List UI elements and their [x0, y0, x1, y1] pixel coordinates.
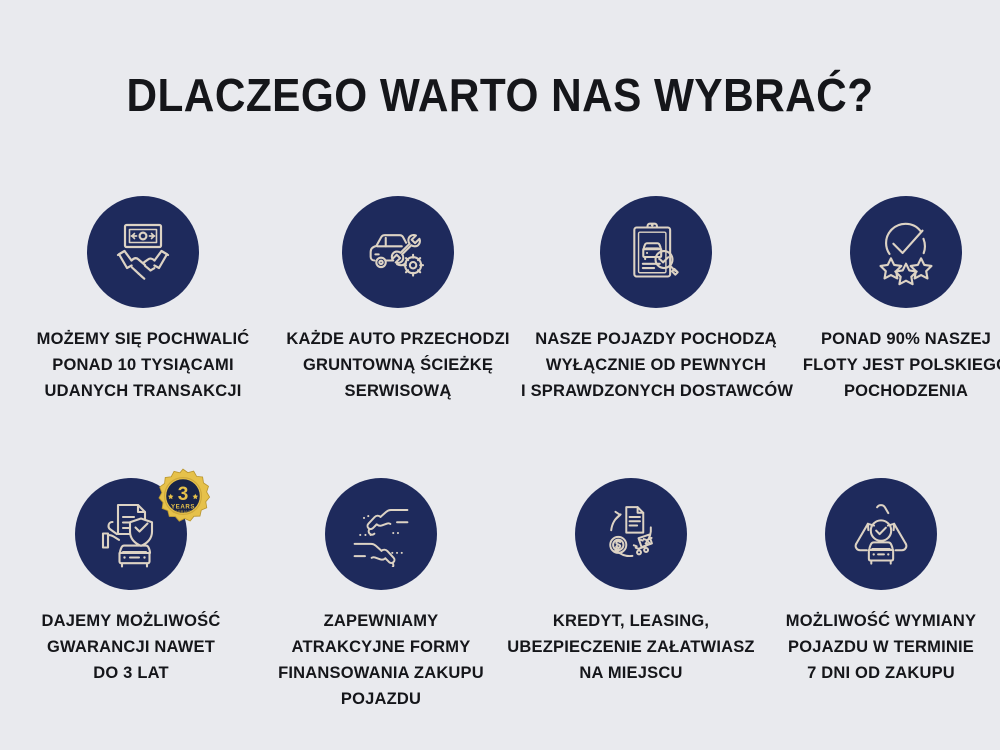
caption-line: FLOTY JEST POLSKIEGO [771, 352, 1000, 378]
caption-line: PONAD 90% NASZEJ [771, 326, 1000, 352]
checkmark-stars-icon [850, 196, 962, 308]
feature-icon-wrap-7 [575, 478, 687, 590]
feature-caption-6: ZAPEWNIAMY ATRAKCYJNE FORMY FINANSOWANIA… [246, 608, 516, 712]
caption-line: NASZE POJAZDY POCHODZĄ [521, 326, 791, 352]
document-cart-coin-cycle-icon [575, 478, 687, 590]
feature-icon-wrap-8 [825, 478, 937, 590]
three-years-warranty-badge: 3 YEARS WARRANTY [155, 468, 211, 524]
caption-line: PONAD 10 TYSIĄCAMI [8, 352, 278, 378]
clipboard-car-magnifier-check-icon [600, 196, 712, 308]
hands-money-exchange-icon [325, 478, 437, 590]
feature-item-8: MOŻLIWOŚĆ WYMIANY POJAZDU W TERMINIE 7 D… [756, 478, 1000, 686]
handshake-money-icon [87, 196, 199, 308]
feature-caption-2: KAŻDE AUTO PRZECHODZI GRUNTOWNĄ ŚCIEŻKĘ … [263, 326, 533, 404]
caption-line: GRUNTOWNĄ ŚCIEŻKĘ [263, 352, 533, 378]
caption-line: UBEZPIECZENIE ZAŁATWIASZ [496, 634, 766, 660]
caption-line: POJAZDU W TERMINIE [746, 634, 1000, 660]
caption-line: GWARANCJI NAWET [0, 634, 266, 660]
feature-item-3: NASZE POJAZDY POCHODZĄ WYŁĄCZNIE OD PEWN… [531, 196, 781, 404]
features-row-1: MOŻEMY SIĘ POCHWALIĆ PONAD 10 TYSIĄCAMI … [0, 196, 1000, 404]
caption-line: ZAPEWNIAMY [246, 608, 516, 634]
feature-icon-wrap-5: 3 YEARS WARRANTY [75, 478, 187, 590]
caption-line: NA MIEJSCU [496, 660, 766, 686]
caption-line: DO 3 LAT [0, 660, 266, 686]
caption-line: POCHODZENIA [771, 378, 1000, 404]
feature-caption-1: MOŻEMY SIĘ POCHWALIĆ PONAD 10 TYSIĄCAMI … [8, 326, 278, 404]
caption-line: UDANYCH TRANSAKCJI [8, 378, 278, 404]
feature-caption-3: NASZE POJAZDY POCHODZĄ WYŁĄCZNIE OD PEWN… [521, 326, 791, 404]
feature-item-4: PONAD 90% NASZEJ FLOTY JEST POLSKIEGO PO… [781, 196, 1000, 404]
caption-line: MOŻEMY SIĘ POCHWALIĆ [8, 326, 278, 352]
feature-icon-wrap-4 [850, 196, 962, 308]
feature-caption-4: PONAD 90% NASZEJ FLOTY JEST POLSKIEGO PO… [771, 326, 1000, 404]
feature-item-2: KAŻDE AUTO PRZECHODZI GRUNTOWNĄ ŚCIEŻKĘ … [273, 196, 523, 404]
feature-item-5: 3 YEARS WARRANTY DAJEMY MOŻLIWOŚĆ GWARAN… [6, 478, 256, 686]
caption-line: KREDYT, LEASING, [496, 608, 766, 634]
svg-text:WARRANTY: WARRANTY [172, 510, 194, 514]
features-grid: MOŻEMY SIĘ POCHWALIĆ PONAD 10 TYSIĄCAMI … [0, 196, 1000, 726]
svg-text:3: 3 [178, 484, 189, 505]
caption-line: SERWISOWĄ [263, 378, 533, 404]
car-wrench-gear-icon [342, 196, 454, 308]
feature-icon-wrap-3 [600, 196, 712, 308]
caption-line: DAJEMY MOŻLIWOŚĆ [0, 608, 266, 634]
caption-line: ATRAKCYJNE FORMY [246, 634, 516, 660]
features-row-2: 3 YEARS WARRANTY DAJEMY MOŻLIWOŚĆ GWARAN… [0, 478, 1000, 712]
feature-caption-7: KREDYT, LEASING, UBEZPIECZENIE ZAŁATWIAS… [496, 608, 766, 686]
caption-line: I SPRAWDZONYCH DOSTAWCÓW [521, 378, 791, 404]
caption-line: FINANSOWANIA ZAKUPU [246, 660, 516, 686]
feature-caption-5: DAJEMY MOŻLIWOŚĆ GWARANCJI NAWET DO 3 LA… [0, 608, 266, 686]
page-title: DLACZEGO WARTO NAS WYBRAĆ? [40, 68, 960, 122]
feature-icon-wrap-6 [325, 478, 437, 590]
caption-line: MOŻLIWOŚĆ WYMIANY [746, 608, 1000, 634]
caption-line: KAŻDE AUTO PRZECHODZI [263, 326, 533, 352]
caption-line: 7 DNI OD ZAKUPU [746, 660, 1000, 686]
feature-item-7: KREDYT, LEASING, UBEZPIECZENIE ZAŁATWIAS… [506, 478, 756, 686]
feature-icon-wrap-1 [87, 196, 199, 308]
feature-item-6: ZAPEWNIAMY ATRAKCYJNE FORMY FINANSOWANIA… [256, 478, 506, 712]
caption-line: POJAZDU [246, 686, 516, 712]
car-exchange-check-icon [825, 478, 937, 590]
feature-caption-8: MOŻLIWOŚĆ WYMIANY POJAZDU W TERMINIE 7 D… [746, 608, 1000, 686]
feature-item-1: MOŻEMY SIĘ POCHWALIĆ PONAD 10 TYSIĄCAMI … [18, 196, 268, 404]
infographic-page: DLACZEGO WARTO NAS WYBRAĆ? [0, 0, 1000, 750]
feature-icon-wrap-2 [342, 196, 454, 308]
caption-line: WYŁĄCZNIE OD PEWNYCH [521, 352, 791, 378]
